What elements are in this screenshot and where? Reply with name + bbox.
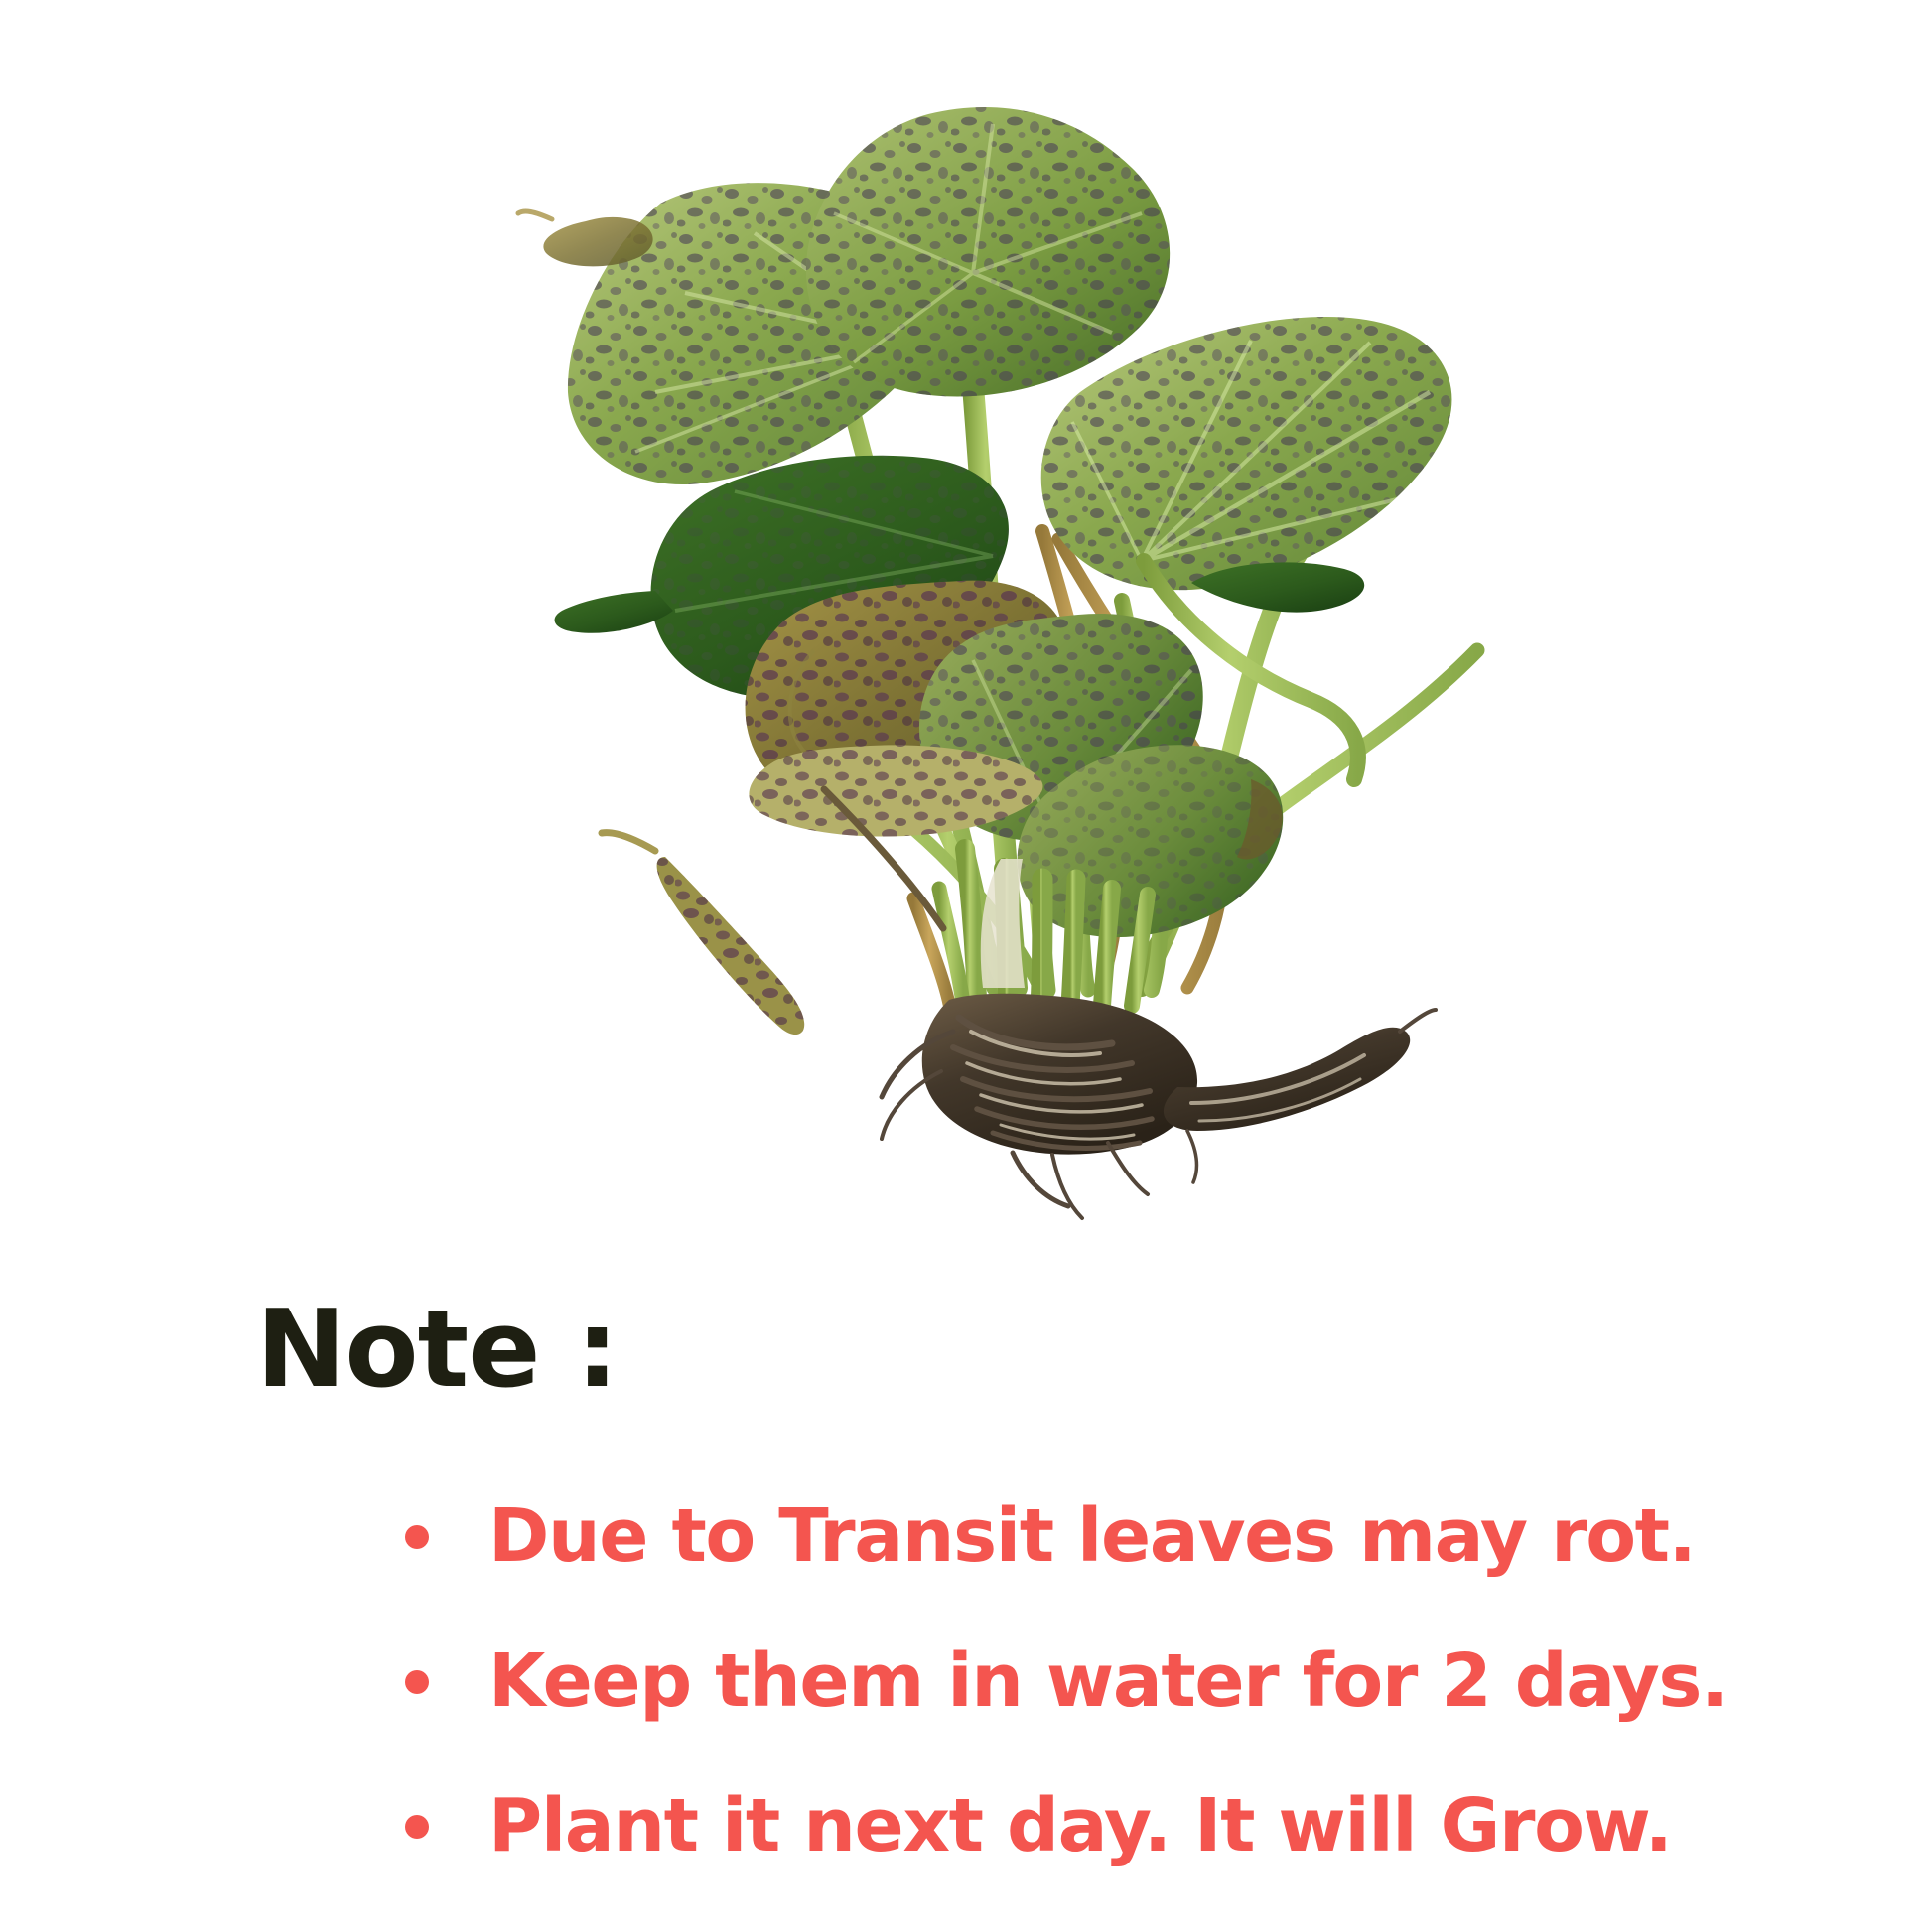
list-item: Plant it next day. It will Grow. — [387, 1765, 1797, 1886]
bullet-dot-icon — [405, 1525, 429, 1549]
list-item: Due to Transit leaves may rot. — [387, 1475, 1797, 1596]
bullet-dot-icon — [405, 1815, 429, 1839]
note-bullet-text: Plant it next day. It will Grow. — [488, 1765, 1671, 1886]
note-bullet-text: Keep them in water for 2 days. — [488, 1620, 1727, 1741]
bullet-dot-icon — [405, 1670, 429, 1694]
aquatic-plant-photo — [357, 94, 1598, 1286]
note-heading: Note : — [256, 1291, 618, 1411]
note-section: Note : Due to Transit leaves may rot. Ke… — [0, 1291, 1932, 1932]
leaf-bottom-left-narrow — [602, 833, 804, 1035]
plant-root-mass — [882, 994, 1436, 1218]
list-item: Keep them in water for 2 days. — [387, 1620, 1797, 1741]
note-bullet-list: Due to Transit leaves may rot. Keep them… — [387, 1475, 1797, 1886]
plant-illustration — [357, 94, 1598, 1286]
page-root: Note : Due to Transit leaves may rot. Ke… — [0, 0, 1932, 1932]
note-bullet-text: Due to Transit leaves may rot. — [488, 1475, 1695, 1596]
